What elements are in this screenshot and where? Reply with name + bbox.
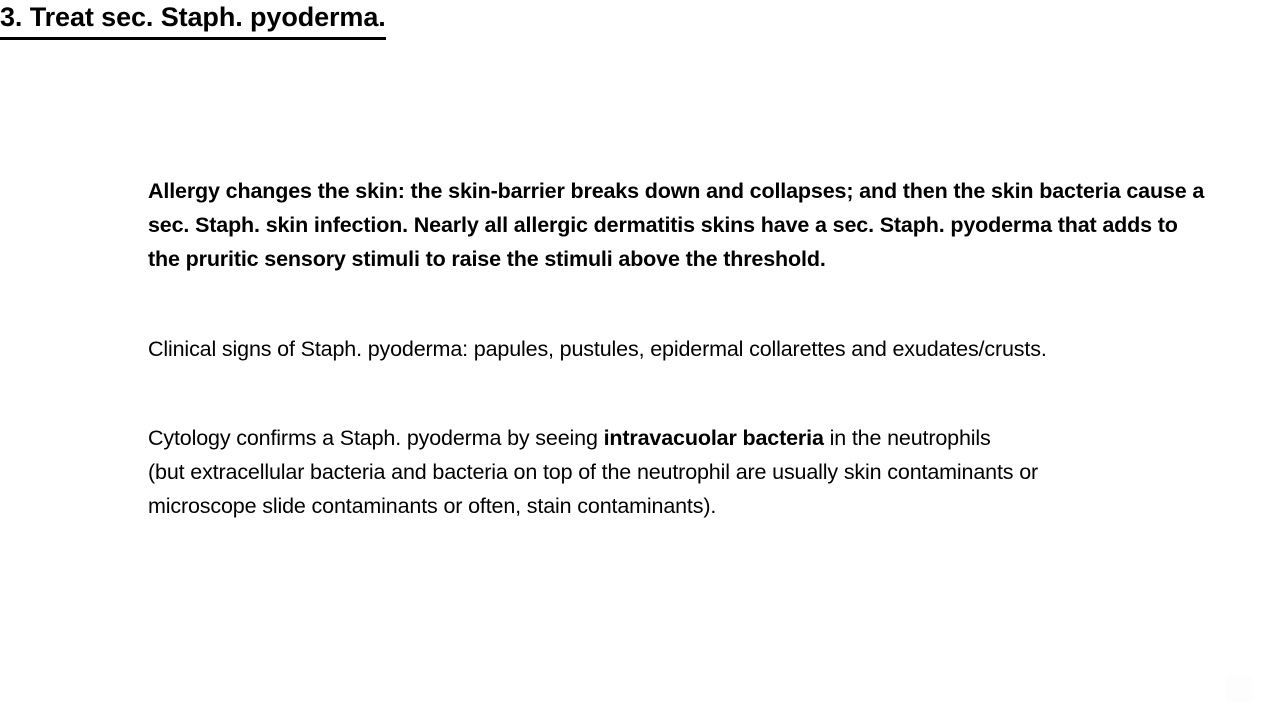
cytology-line-1: Cytology confirms a Staph. pyoderma by s…: [148, 421, 1223, 455]
cytology-text-pre: Cytology confirms a Staph. pyoderma by s…: [148, 426, 604, 450]
page-title: 3. Treat sec. Staph. pyoderma.: [0, 0, 386, 40]
cytology-emphasis-intravacuolar-bacteria: intravacuolar bacteria: [604, 426, 824, 450]
cytology-line-3: microscope slide contaminants or often, …: [148, 489, 1223, 523]
paragraph-clinical-signs: Clinical signs of Staph. pyoderma: papul…: [148, 332, 1223, 366]
slide-content: Allergy changes the skin: the skin-barri…: [148, 112, 1223, 523]
slide-canvas: 3. Treat sec. Staph. pyoderma. Allergy c…: [0, 0, 1280, 720]
cytology-line-2: (but extracellular bacteria and bacteria…: [148, 455, 1223, 489]
paragraph-cytology: Cytology confirms a Staph. pyoderma by s…: [148, 421, 1223, 524]
paragraph-allergy-pathogenesis: Allergy changes the skin: the skin-barri…: [148, 174, 1210, 277]
cytology-text-post: in the neutrophils: [824, 426, 991, 450]
corner-artifact: [1226, 676, 1252, 702]
